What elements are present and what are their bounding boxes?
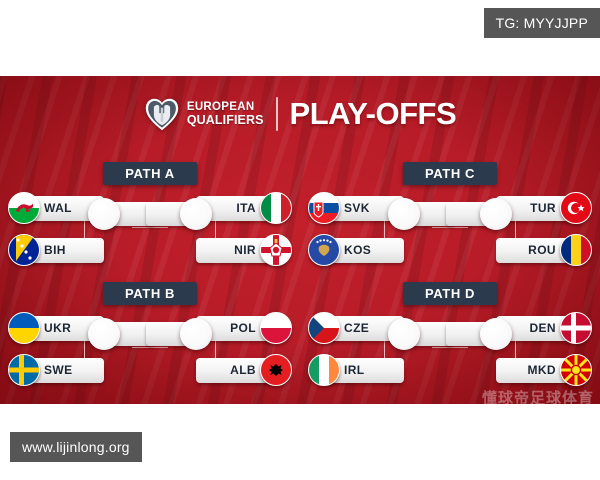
path-c-semifinal-slot[interactable] (388, 198, 454, 230)
slovakia-flag-icon (308, 192, 340, 224)
ireland-flag-icon (308, 354, 340, 386)
european-qualifiers-heart-emblem (144, 96, 180, 132)
path-d-team-irl[interactable]: IRL (308, 356, 404, 384)
path-b-bracket: PATH B UKR SWE (0, 282, 300, 404)
path-c-team-rou[interactable]: ROU (496, 236, 592, 264)
path-a-semifinal-circle (88, 198, 120, 230)
page-title: PLAY-OFFS (290, 96, 457, 132)
north-macedonia-flag-icon (560, 354, 592, 386)
path-a-team-nir[interactable]: NIR (196, 236, 292, 264)
path-b-label: PATH B (103, 282, 197, 305)
site-url-label: www.lijinlong.org (22, 439, 130, 455)
kosovo-flag-icon (308, 234, 340, 266)
turkey-flag-icon (560, 192, 592, 224)
path-d-final-circle (480, 318, 512, 350)
path-c-team-kos[interactable]: KOS (308, 236, 404, 264)
path-b-team-swe[interactable]: SWE (8, 356, 104, 384)
ukraine-flag-icon (8, 312, 40, 344)
denmark-flag-icon (560, 312, 592, 344)
path-b-final-slot[interactable] (146, 318, 212, 350)
logo-line-1: EUROPEAN (187, 102, 264, 114)
path-c-label: PATH C (403, 162, 497, 185)
sweden-flag-icon (8, 354, 40, 386)
bosnia-herzegovina-flag-icon (8, 234, 40, 266)
site-url-badge[interactable]: www.lijinlong.org (10, 432, 142, 462)
watermark-text: 懂球帝足球体育 (482, 387, 594, 404)
path-d-bracket: PATH D CZE IRL (300, 282, 600, 404)
path-a-final-slot[interactable] (146, 198, 212, 230)
logo-line-2: QUALIFIERS (187, 114, 264, 127)
path-d-final-slot[interactable] (446, 318, 512, 350)
path-a-final-circle (180, 198, 212, 230)
european-qualifiers-logo: EUROPEAN QUALIFIERS (144, 96, 264, 132)
playoff-bracket-graphic: EUROPEAN QUALIFIERS PLAY-OFFS PATH A WAL (0, 76, 600, 404)
path-a-team-bih[interactable]: BIH (8, 236, 104, 264)
path-d-semifinal-slot[interactable] (388, 318, 454, 350)
graphic-header: EUROPEAN QUALIFIERS PLAY-OFFS (0, 96, 600, 132)
path-b-final-circle (180, 318, 212, 350)
albania-flag-icon (260, 354, 292, 386)
czechia-flag-icon (308, 312, 340, 344)
path-c-bracket: PATH C SVK KOS (300, 162, 600, 292)
northern-ireland-flag-icon (260, 234, 292, 266)
tag-badge: TG: MYYJJPP (484, 8, 600, 38)
wales-flag-icon (8, 192, 40, 224)
poland-flag-icon (260, 312, 292, 344)
tag-badge-label: TG: MYYJJPP (496, 15, 588, 31)
path-c-final-circle (480, 198, 512, 230)
path-b-semifinal-slot[interactable] (88, 318, 154, 350)
path-a-semifinal-slot[interactable] (88, 198, 154, 230)
path-d-team-mkd[interactable]: MKD (496, 356, 592, 384)
european-qualifiers-wordmark: EUROPEAN QUALIFIERS (187, 102, 264, 126)
romania-flag-icon (560, 234, 592, 266)
path-b-semifinal-circle (88, 318, 120, 350)
header-divider (276, 97, 278, 131)
path-c-semifinal-circle (388, 198, 420, 230)
path-d-label: PATH D (403, 282, 497, 305)
path-a-label: PATH A (103, 162, 197, 185)
italy-flag-icon (260, 192, 292, 224)
path-d-semifinal-circle (388, 318, 420, 350)
path-b-team-alb[interactable]: ALB (196, 356, 292, 384)
path-c-final-slot[interactable] (446, 198, 512, 230)
path-a-bracket: PATH A WAL BIH (0, 162, 300, 292)
